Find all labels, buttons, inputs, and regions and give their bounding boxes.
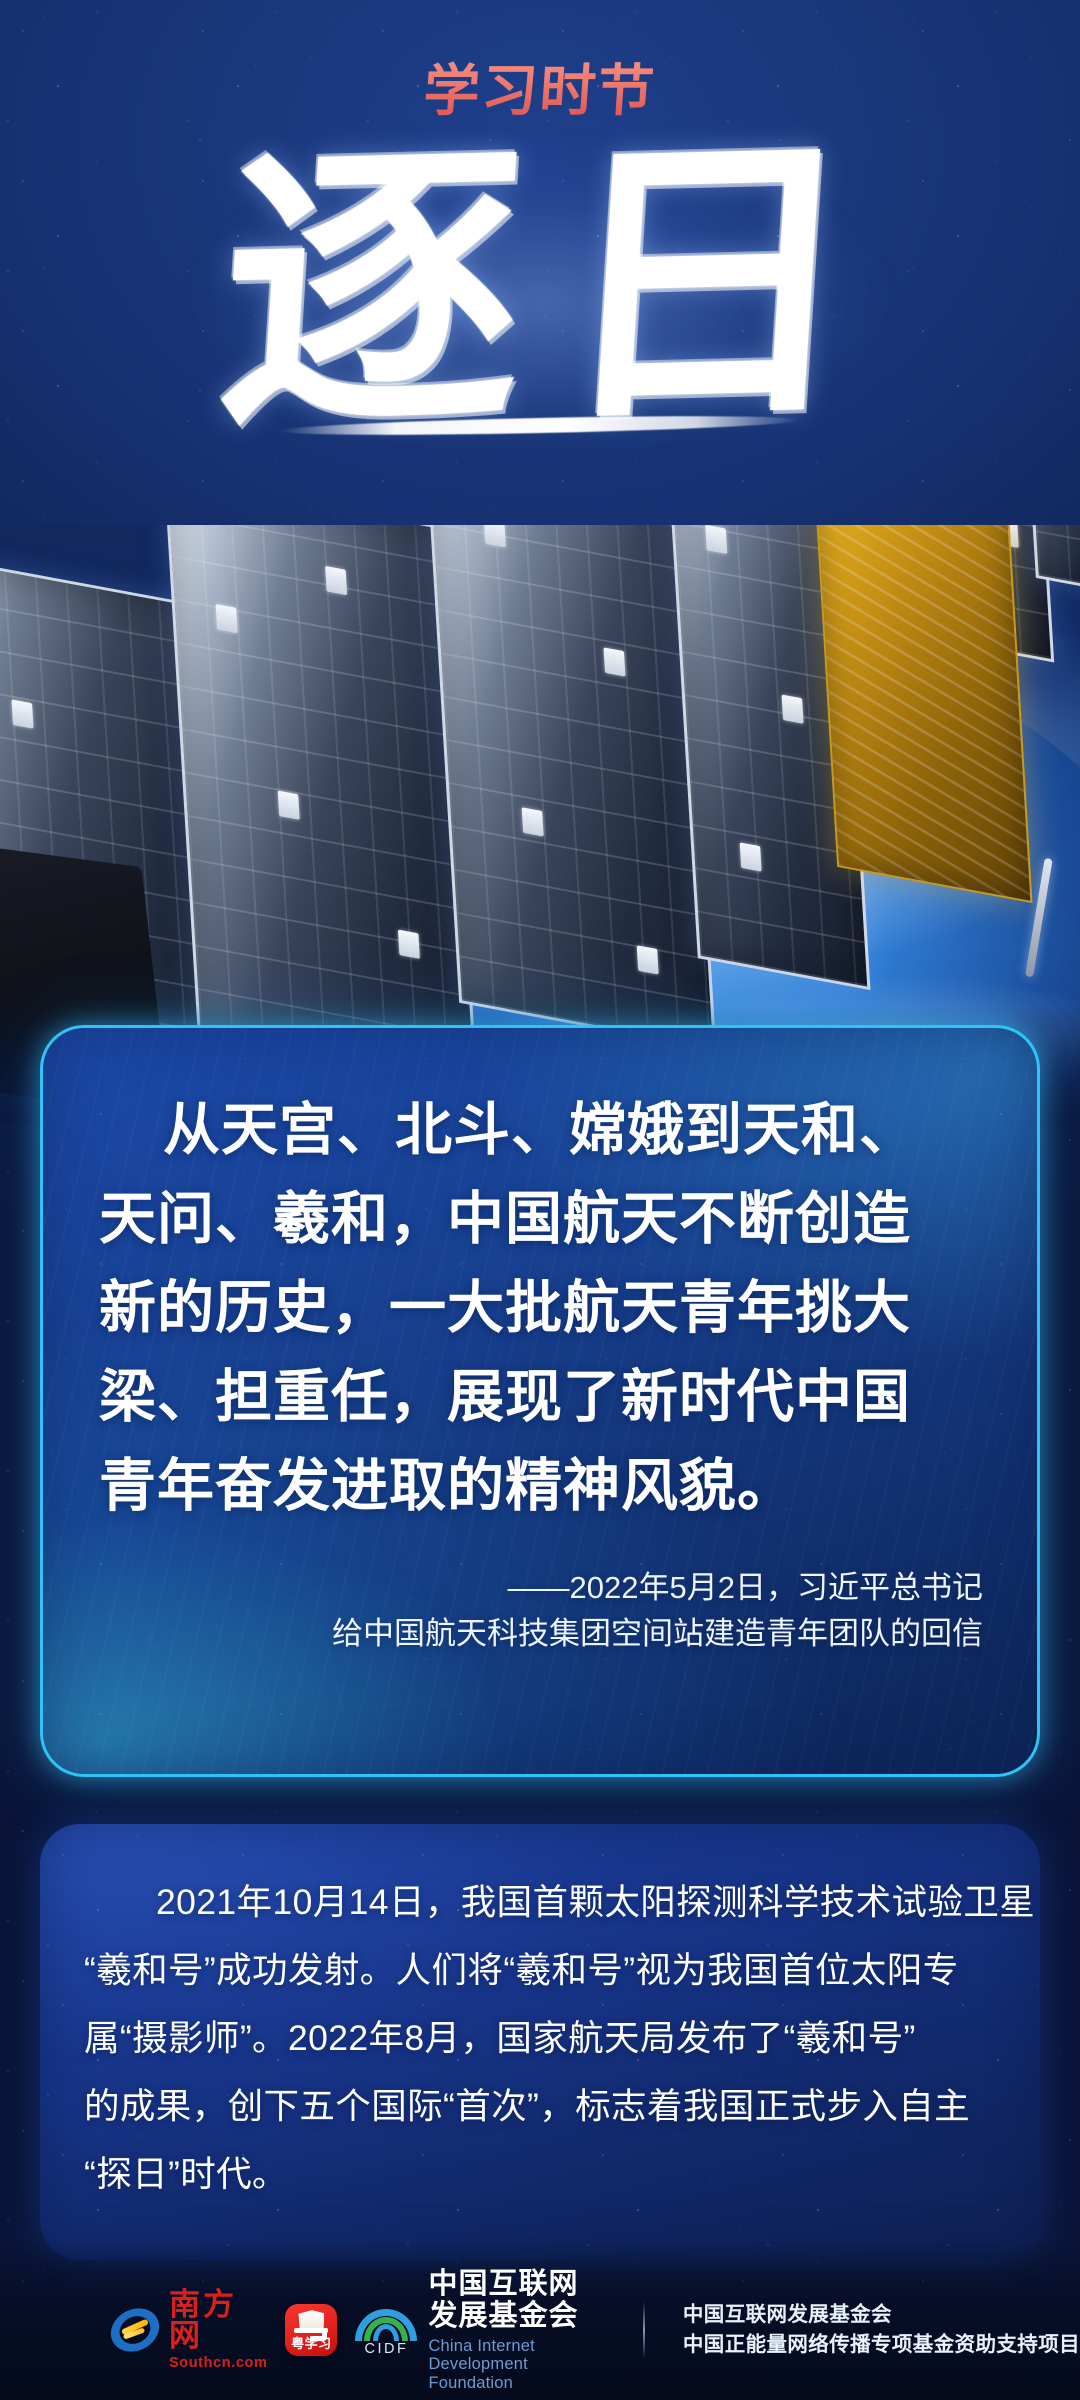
cidf-wordmark: 中国互联网发展基金会 China Internet Development Fo… xyxy=(428,2268,606,2392)
page-title: 逐日 xyxy=(178,119,901,454)
cidf-name-cn: 中国互联网发展基金会 xyxy=(428,2268,606,2333)
story-line: “羲和号”成功发射。人们将“羲和号”视为我国首位太阳专 xyxy=(84,1936,996,2004)
southcn-name-cn: 南方网 xyxy=(169,2290,267,2352)
footer-logo-row: 南方网 Southcn.com 粤学习 CIDF 中国互联网发展基金会 xyxy=(110,2268,1080,2392)
quote-card: 从天宫、北斗、嫦娥到天和、 天问、羲和，中国航天不断创造 新的历史，一大批航天青… xyxy=(40,1025,1040,1777)
footer-sponsor-note: 中国互联网发展基金会 中国正能量网络传播专项基金资助支持项目 xyxy=(683,2300,1080,2359)
solar-panel-3 xyxy=(424,525,716,1050)
yuexuexi-label: 粤学习 xyxy=(285,2333,337,2352)
southcn-wordmark: 南方网 Southcn.com xyxy=(169,2290,267,2371)
yuexuexi-app-icon[interactable]: 粤学习 xyxy=(285,2304,337,2356)
story-line: 2021年10月14日，我国首颗太阳探测科学技术试验卫星 xyxy=(84,1868,996,1936)
quote-line: 从天宫、北斗、嫦娥到天和、 xyxy=(99,1086,985,1175)
footer: 南方网 Southcn.com 粤学习 CIDF 中国互联网发展基金会 xyxy=(0,2240,1080,2400)
story-card: 2021年10月14日，我国首颗太阳探测科学技术试验卫星 “羲和号”成功发射。人… xyxy=(40,1824,1040,2260)
quote-line: 天问、羲和，中国航天不断创造 xyxy=(99,1175,985,1264)
satellite-gold-foil-body xyxy=(806,525,1032,903)
southcn-swoosh-icon xyxy=(110,2305,160,2355)
poster-title-block: 逐日 xyxy=(0,128,1080,446)
cidf-arcs-icon: CIDF xyxy=(355,2305,417,2355)
story-line: “探日”时代。 xyxy=(84,2140,996,2208)
story-text-block: 2021年10月14日，我国首颗太阳探测科学技术试验卫星 “羲和号”成功发射。人… xyxy=(40,1824,1040,2208)
southcn-logo[interactable]: 南方网 Southcn.com xyxy=(110,2290,267,2371)
quote-attribution: ——2022年5月2日，习近平总书记 给中国航天科技集团空间站建造青年团队的回信 xyxy=(43,1565,1037,1657)
quote-line: 新的历史，一大批航天青年挑大 xyxy=(99,1264,985,1353)
quote-attribution-line-2: 给中国航天科技集团空间站建造青年团队的回信 xyxy=(43,1611,983,1657)
southcn-name-en: Southcn.com xyxy=(169,2356,267,2371)
story-line: 的成果，创下五个国际“首次”，标志着我国正式步入自主 xyxy=(84,2072,996,2140)
cidf-abbr: CIDF xyxy=(355,2341,417,2357)
quote-text-block: 从天宫、北斗、嫦娥到天和、 天问、羲和，中国航天不断创造 新的历史，一大批航天青… xyxy=(43,1028,1037,1531)
footer-note-line-2: 中国正能量网络传播专项基金资助支持项目 xyxy=(683,2330,1080,2360)
cidf-name-en: China Internet Development Foundation xyxy=(428,2337,606,2392)
cidf-logo[interactable]: CIDF 中国互联网发展基金会 China Internet Developme… xyxy=(355,2268,606,2392)
quote-attribution-line-1: ——2022年5月2日，习近平总书记 xyxy=(43,1565,983,1611)
solar-panel-2 xyxy=(164,525,477,1087)
poster-root: 学习时节 逐日 xyxy=(0,0,1080,2400)
story-line: 属“摄影师”。2022年8月，国家航天局发布了“羲和号” xyxy=(84,2004,996,2072)
footer-divider xyxy=(643,2301,645,2359)
footer-note-line-1: 中国互联网发展基金会 xyxy=(683,2300,1080,2330)
quote-line: 青年奋发进取的精神风貌。 xyxy=(99,1442,985,1531)
quote-line: 梁、担重任，展现了新时代中国 xyxy=(99,1353,985,1442)
